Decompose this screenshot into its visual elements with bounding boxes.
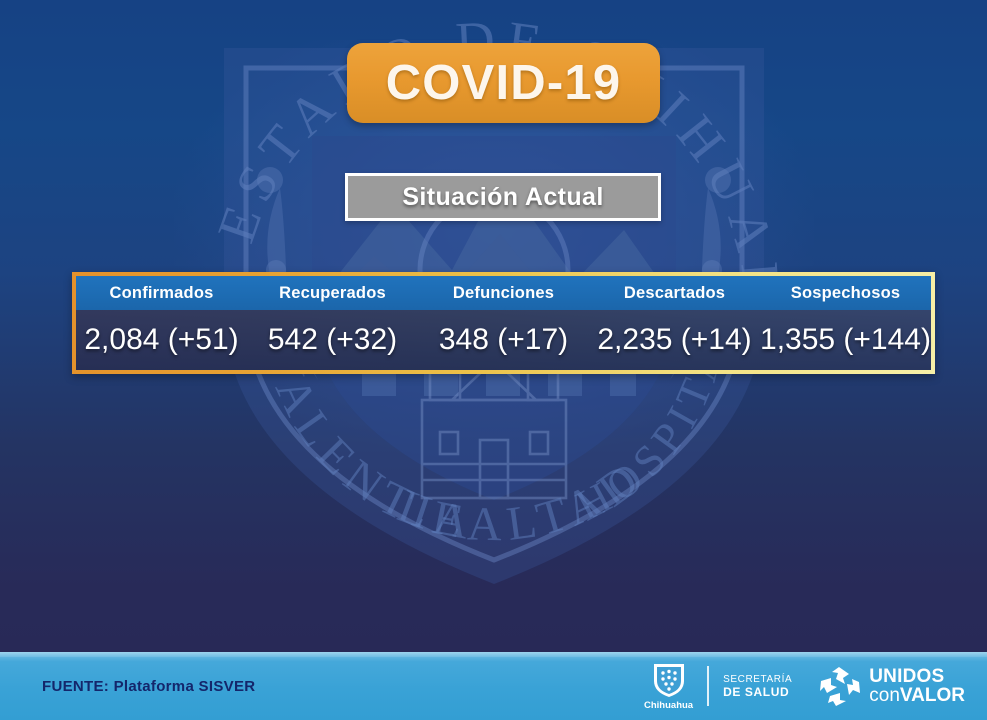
stats-header-descartados: Descartados: [589, 276, 760, 310]
stats-header-defunciones: Defunciones: [418, 276, 589, 310]
stats-value-confirmados: 2,084 (+51): [76, 310, 247, 370]
unidos-emblem-icon: [818, 665, 862, 707]
secretaria-line2: DE SALUD: [723, 685, 792, 699]
stats-table-value-row: 2,084 (+51) 542 (+32) 348 (+17) 2,235 (+…: [76, 310, 931, 370]
situacion-actual-banner: Situación Actual: [345, 173, 661, 221]
unidos-con-valor-logo: UNIDOS conVALOR: [818, 665, 965, 707]
stats-table: Confirmados Recuperados Defunciones Desc…: [72, 272, 935, 374]
stats-value-sospechosos: 1,355 (+144): [760, 310, 931, 370]
chihuahua-shield-icon: [652, 661, 686, 699]
stats-value-defunciones: 348 (+17): [418, 310, 589, 370]
source-label: FUENTE: Plataforma SISVER: [42, 678, 255, 695]
unidos-valor: VALOR: [900, 685, 965, 706]
stats-value-recuperados: 542 (+32): [247, 310, 418, 370]
stats-header-recuperados: Recuperados: [247, 276, 418, 310]
subtitle-label: Situación Actual: [402, 183, 603, 212]
chihuahua-label: Chihuahua: [644, 700, 693, 711]
stats-table-header-row: Confirmados Recuperados Defunciones Desc…: [76, 276, 931, 310]
svg-text:LEALTAD: LEALTAD: [391, 449, 654, 551]
footer-logos: Chihuahua SECRETARÍA DE SALUD UNIDO: [644, 652, 979, 720]
stats-header-sospechosos: Sospechosos: [760, 276, 931, 310]
stats-value-descartados: 2,235 (+14): [589, 310, 760, 370]
stats-header-confirmados: Confirmados: [76, 276, 247, 310]
covid-title-badge: COVID-19: [347, 43, 660, 123]
footer-bar: FUENTE: Plataforma SISVER Chihuahua: [0, 652, 987, 720]
page-title: COVID-19: [386, 55, 622, 111]
unidos-line1: UNIDOS: [869, 667, 965, 686]
logo-divider: [707, 666, 709, 706]
secretaria-line1: SECRETARÍA: [723, 674, 792, 685]
unidos-con: con: [869, 685, 900, 706]
footer-top-edge: [0, 652, 987, 657]
watermark-arc-bottom-text: LEALTAD: [391, 449, 654, 551]
secretaria-de-salud-logo: SECRETARÍA DE SALUD: [723, 674, 792, 699]
slide-canvas: ESTADO DE CHIHUAHUA VALENTIA LEALTAD HOS…: [0, 0, 987, 720]
chihuahua-logo: Chihuahua: [644, 661, 693, 711]
